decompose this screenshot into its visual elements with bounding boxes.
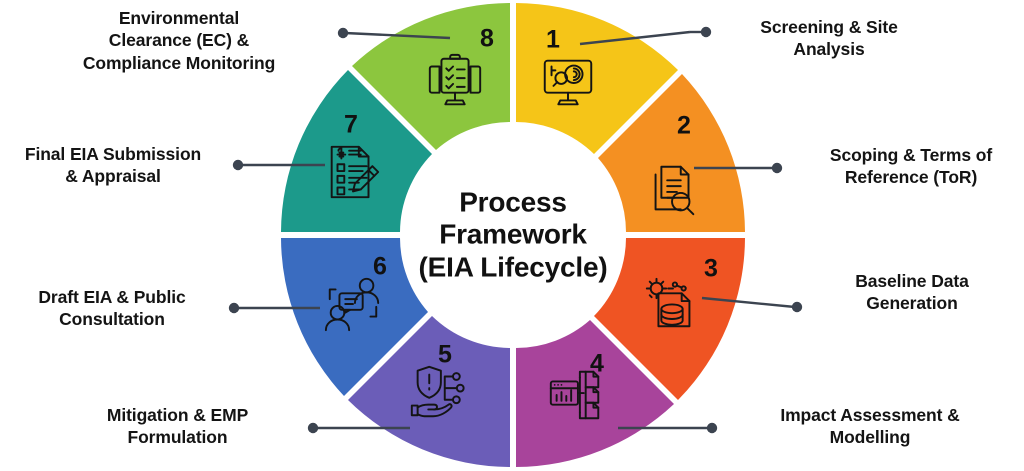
- callout-label-3: Baseline Data Generation: [812, 270, 1012, 315]
- eia-lifecycle-diagram: Process Framework (EIA Lifecycle) 1 2 3 …: [0, 0, 1024, 471]
- callout-8-line2: Clearance (EC) &: [28, 29, 330, 51]
- callout-5-line1: Mitigation & EMP: [70, 404, 285, 426]
- callout-3-line2: Generation: [812, 292, 1012, 314]
- callout-6-line2: Consultation: [8, 308, 216, 330]
- callout-2-line2: Reference (ToR): [795, 166, 1024, 188]
- callout-1-line1: Screening & Site: [724, 16, 934, 38]
- callout-7-line1: Final EIA Submission: [0, 143, 226, 165]
- callout-label-4: Impact Assessment & Modelling: [730, 404, 1010, 449]
- callout-8-line1: Environmental: [28, 7, 330, 29]
- callout-label-1: Screening & Site Analysis: [724, 16, 934, 61]
- callout-6-line1: Draft EIA & Public: [8, 286, 216, 308]
- callout-1-line2: Analysis: [724, 38, 934, 60]
- callout-label-2: Scoping & Terms of Reference (ToR): [795, 144, 1024, 189]
- callout-4-line1: Impact Assessment &: [730, 404, 1010, 426]
- callout-3-line1: Baseline Data: [812, 270, 1012, 292]
- wheel-segments: [281, 3, 745, 467]
- callout-8-line3: Compliance Monitoring: [28, 52, 330, 74]
- callout-5-line2: Formulation: [70, 426, 285, 448]
- callout-label-7: Final EIA Submission & Appraisal: [0, 143, 226, 188]
- callout-2-line1: Scoping & Terms of: [795, 144, 1024, 166]
- callout-7-line2: & Appraisal: [0, 165, 226, 187]
- callout-4-line2: Modelling: [730, 426, 1010, 448]
- callout-label-8: Environmental Clearance (EC) & Complianc…: [28, 7, 330, 74]
- callout-label-5: Mitigation & EMP Formulation: [70, 404, 285, 449]
- callout-label-6: Draft EIA & Public Consultation: [8, 286, 216, 331]
